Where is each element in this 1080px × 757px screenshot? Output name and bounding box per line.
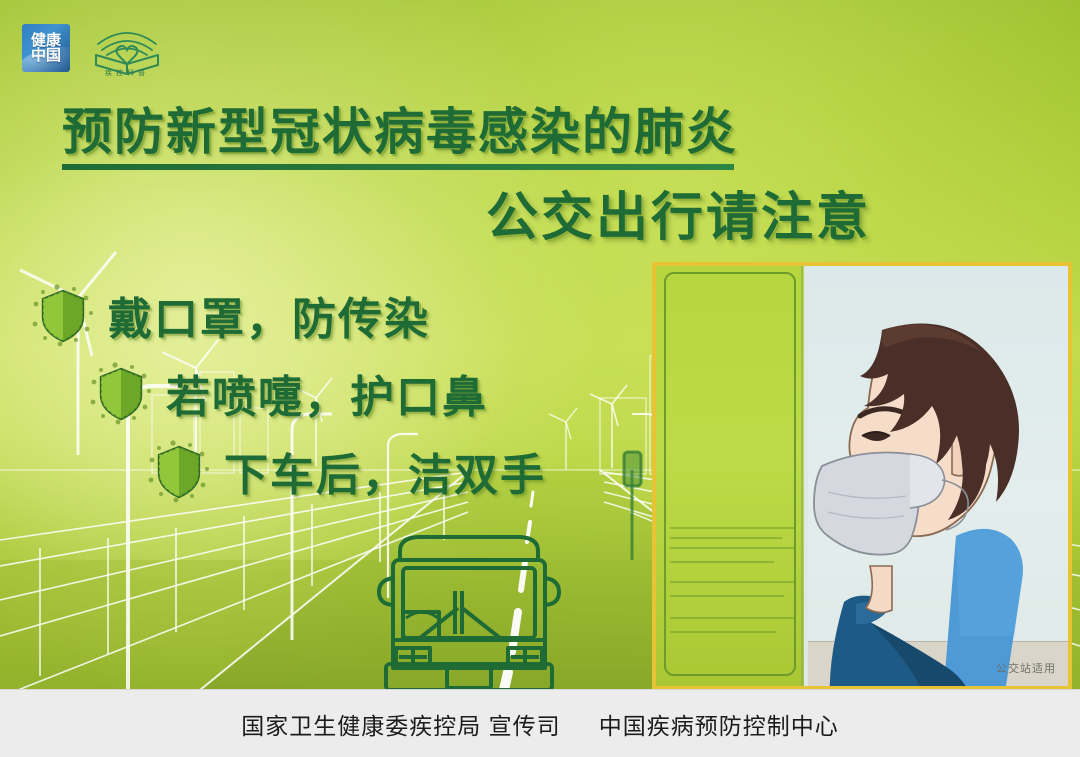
poster-root: 健康 中国 疾控科普 预防新型冠状病毒感染的肺炎: [0, 0, 1080, 757]
bullet-text: 若喷嚏，护口鼻: [166, 361, 488, 425]
cdc-science-logo: 疾控科普: [88, 24, 166, 76]
illustration-panel: 公交站适用: [652, 262, 1072, 690]
healthy-china-line2: 中国: [31, 48, 61, 63]
headline-title: 预防新型冠状病毒感染的肺炎: [62, 104, 738, 160]
list-item: 下车后，洁双手: [146, 432, 546, 510]
shield-virus-icon: [30, 282, 96, 348]
footer-org-left: 国家卫生健康委疾控局 宣传司: [241, 707, 560, 741]
footer-org-right: 中国疾病预防控制中心: [599, 707, 839, 741]
bullet-text: 戴口罩，防传染: [108, 283, 430, 347]
logo-group: 健康 中国 疾控科普: [22, 24, 166, 76]
list-item: 若喷嚏，护口鼻: [88, 354, 546, 432]
panel-caption: 公交站适用: [996, 660, 1056, 676]
bullet-list: 戴口罩，防传染 若喷嚏，护口鼻: [30, 276, 546, 510]
healthy-china-logo-text: 健康 中国: [31, 33, 61, 63]
shield-virus-icon: [88, 360, 154, 426]
headline-underline: [62, 164, 734, 170]
cdc-logo-caption: 疾控科普: [88, 68, 166, 78]
masked-passenger-illustration: [656, 266, 1068, 686]
headline-subtitle: 公交出行请注意: [486, 188, 871, 248]
healthy-china-logo: 健康 中国: [22, 24, 70, 72]
footer-bar: 国家卫生健康委疾控局 宣传司 中国疾病预防控制中心: [0, 689, 1080, 757]
headline-block: 预防新型冠状病毒感染的肺炎: [62, 104, 738, 170]
shield-virus-icon: [146, 438, 212, 504]
list-item: 戴口罩，防传染: [30, 276, 546, 354]
bullet-text: 下车后，洁双手: [224, 439, 546, 503]
